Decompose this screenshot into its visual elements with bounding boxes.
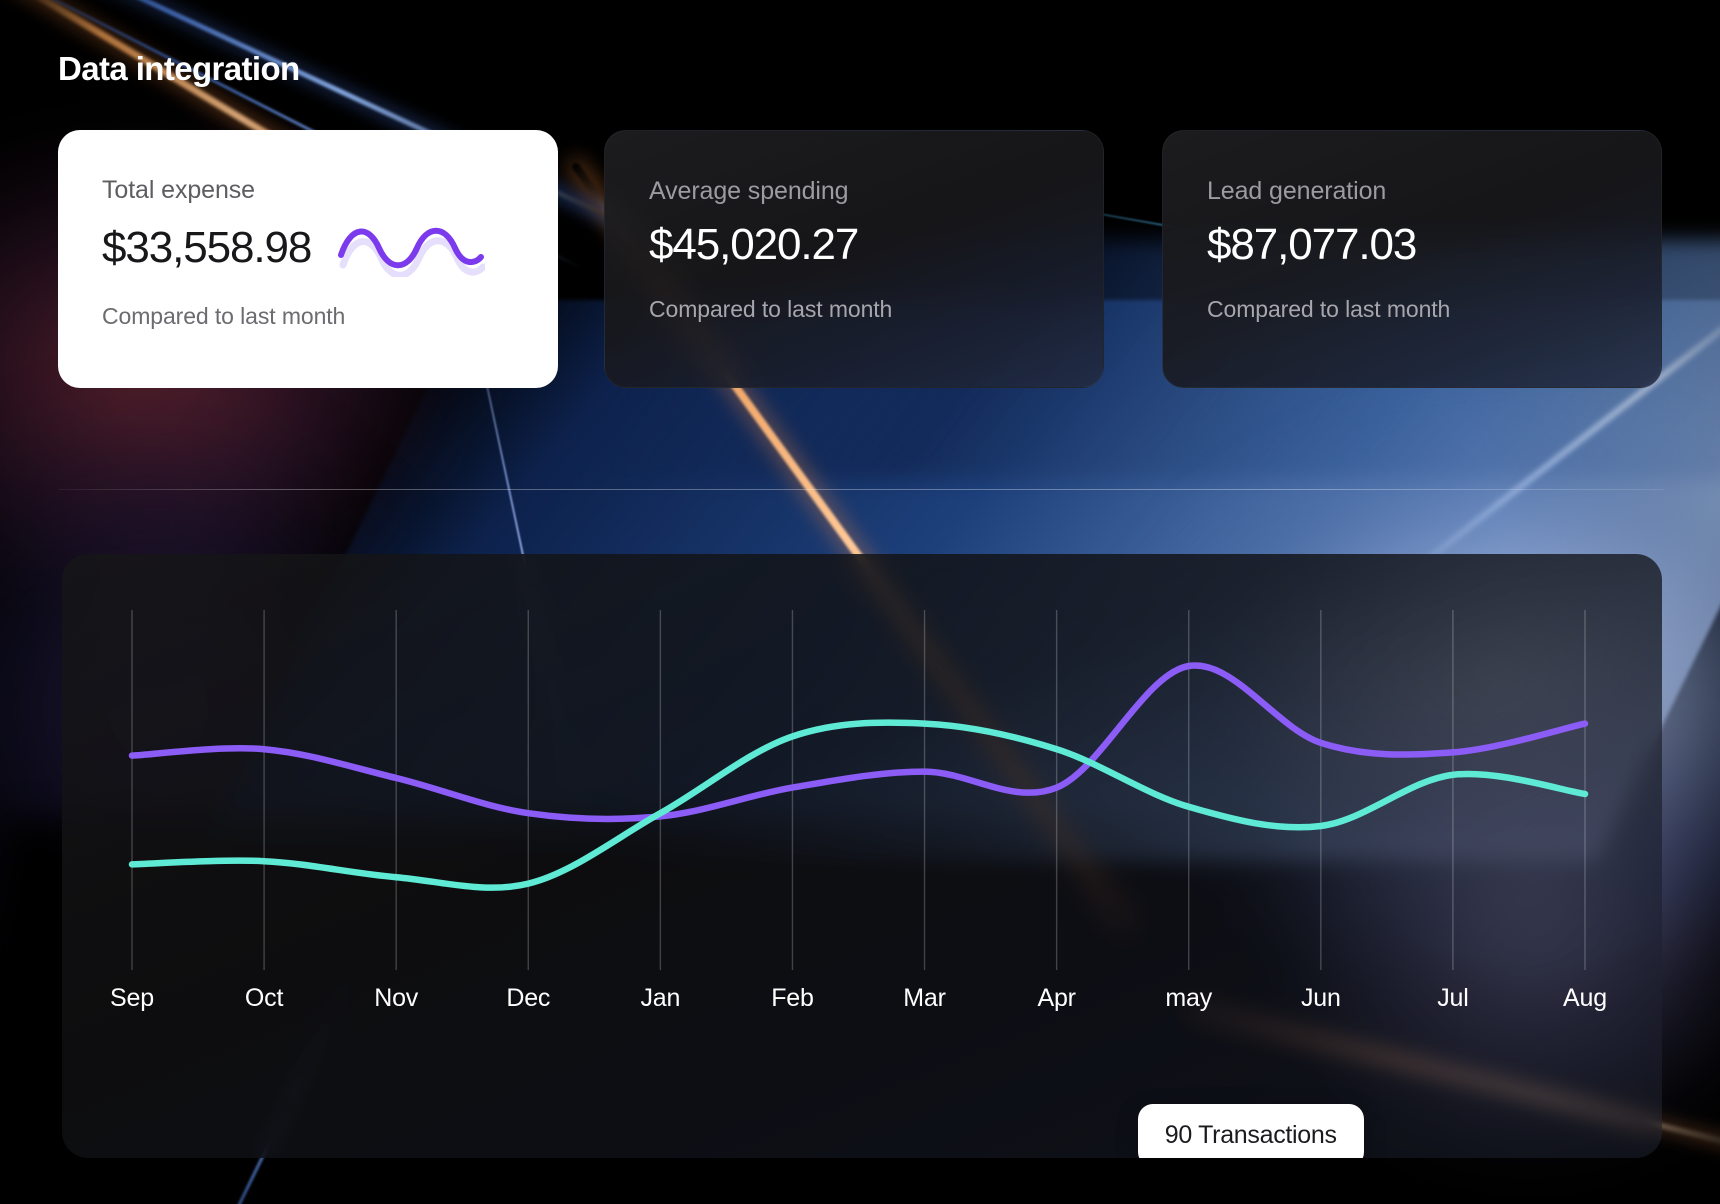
section-divider bbox=[58, 489, 1664, 490]
chart-x-label: Jan bbox=[641, 984, 681, 1013]
page-title: Data integration bbox=[58, 50, 300, 88]
chart-x-label: Jul bbox=[1437, 984, 1468, 1013]
stat-card-row: Total expense $33,558.98 Compared to las… bbox=[58, 130, 1662, 390]
dashboard-root: Data integration Total expense $33,558.9… bbox=[0, 0, 1720, 1204]
transactions-chart-panel: SepOctNovDecJanFebMarAprmayJunJulAug 90 … bbox=[62, 554, 1662, 1158]
stat-card-lead-generation[interactable]: Lead generation $87,077.03 Compared to l… bbox=[1162, 130, 1662, 388]
stat-card-value: $87,077.03 bbox=[1207, 220, 1416, 270]
sine-wave-icon bbox=[337, 219, 485, 277]
line-chart-svg bbox=[62, 554, 1662, 1158]
chart-x-label: Apr bbox=[1037, 984, 1075, 1013]
stat-card-label: Total expense bbox=[102, 176, 516, 205]
stat-card-value-row: $45,020.27 bbox=[649, 220, 1061, 270]
stat-card-average-spending[interactable]: Average spending $45,020.27 Compared to … bbox=[604, 130, 1104, 388]
stat-card-value: $45,020.27 bbox=[649, 220, 858, 270]
chart-line-transactions bbox=[132, 665, 1585, 819]
stat-card-label: Lead generation bbox=[1207, 177, 1619, 206]
chart-x-label: Mar bbox=[903, 984, 945, 1013]
stat-card-value-row: $33,558.98 bbox=[102, 219, 516, 277]
chart-x-label: Dec bbox=[506, 984, 550, 1013]
chart-x-label: Nov bbox=[374, 984, 418, 1013]
chart-x-label: Jun bbox=[1301, 984, 1341, 1013]
chart-gridlines bbox=[132, 610, 1585, 970]
stat-card-label: Average spending bbox=[649, 177, 1061, 206]
chart-x-axis-labels: SepOctNovDecJanFebMarAprmayJunJulAug bbox=[62, 984, 1662, 1034]
chart-tooltip[interactable]: 90 Transactions bbox=[1138, 1104, 1364, 1158]
chart-x-label: Oct bbox=[245, 984, 283, 1013]
stat-card-total-expense[interactable]: Total expense $33,558.98 Compared to las… bbox=[58, 130, 558, 388]
stat-card-value: $33,558.98 bbox=[102, 223, 311, 273]
stat-card-value-row: $87,077.03 bbox=[1207, 220, 1619, 270]
stat-card-subtitle: Compared to last month bbox=[1207, 296, 1619, 323]
chart-line-spending bbox=[132, 723, 1585, 888]
chart-x-label: Aug bbox=[1563, 984, 1607, 1013]
chart-x-label: Sep bbox=[110, 984, 154, 1013]
chart-x-label: may bbox=[1165, 984, 1212, 1013]
chart-x-label: Feb bbox=[771, 984, 813, 1013]
stat-card-subtitle: Compared to last month bbox=[102, 303, 516, 330]
stat-card-subtitle: Compared to last month bbox=[649, 296, 1061, 323]
